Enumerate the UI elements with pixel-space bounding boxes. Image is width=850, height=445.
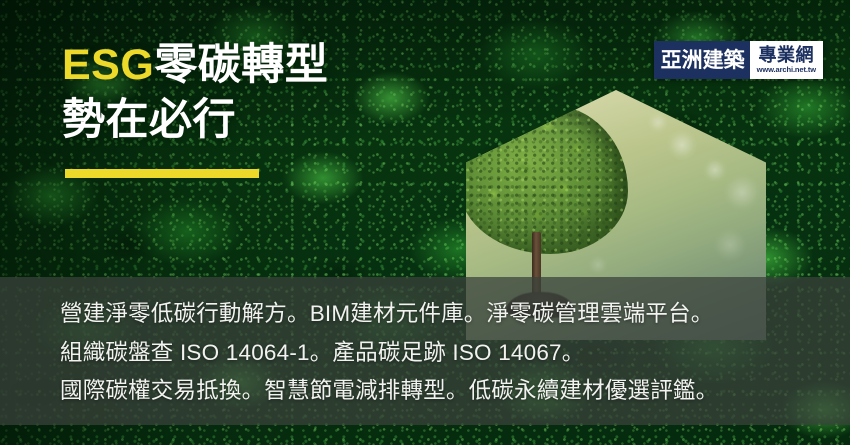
- logo-right-text: 專業網: [759, 46, 815, 65]
- headline-underline-rule: [65, 169, 259, 178]
- headline-line-2: 勢在必行: [62, 93, 328, 148]
- service-list-block: 營建淨零低碳行動解方。BIM建材元件庫。淨零碳管理雲端平台。 組織碳盤查 ISO…: [0, 277, 850, 425]
- esg-promo-banner: ESG零碳轉型 勢在必行 亞洲建築 專業網 www.archi.net.tw 營…: [0, 0, 850, 445]
- service-line-3: 國際碳權交易抵換。智慧節電減排轉型。低碳永續建材優選評鑑。: [60, 372, 850, 411]
- service-line-2: 組織碳盤查 ISO 14064-1。產品碳足跡 ISO 14067。: [60, 334, 850, 373]
- headline-block: ESG零碳轉型 勢在必行: [62, 38, 328, 178]
- headline-accent-esg: ESG: [62, 41, 154, 89]
- service-line-1: 營建淨零低碳行動解方。BIM建材元件庫。淨零碳管理雲端平台。: [60, 295, 850, 334]
- headline-line-1-rest: 零碳轉型: [154, 41, 328, 89]
- logo-left-text: 亞洲建築: [654, 41, 750, 79]
- logo-right-panel: 專業網 www.archi.net.tw: [750, 41, 823, 79]
- asia-architecture-logo[interactable]: 亞洲建築 專業網 www.archi.net.tw: [654, 41, 823, 79]
- logo-website-url: www.archi.net.tw: [757, 66, 816, 74]
- headline-line-1: ESG零碳轉型: [62, 38, 328, 93]
